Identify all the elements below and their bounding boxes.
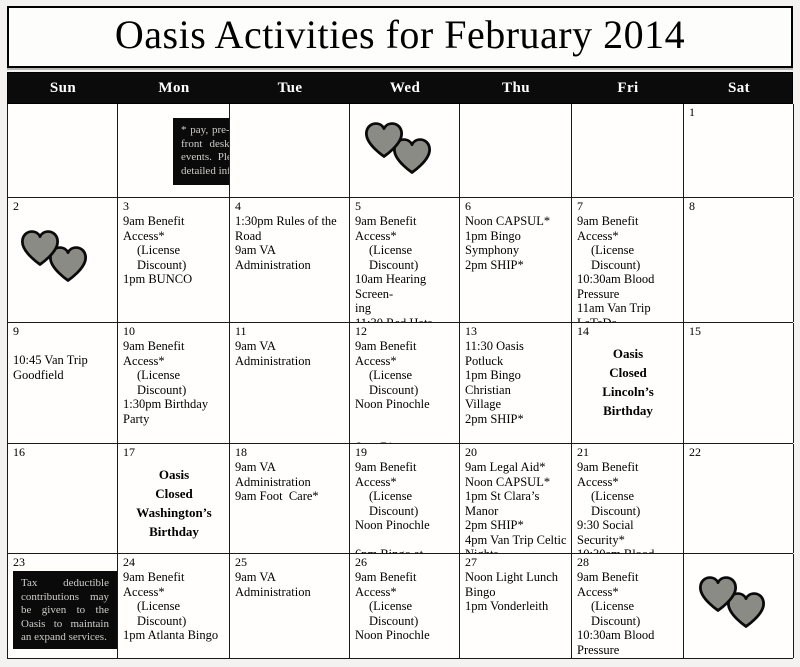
- event-item[interactable]: Noon Pinochle: [577, 657, 679, 658]
- event-item[interactable]: 9am VA Administration: [235, 243, 345, 272]
- event-item[interactable]: (License Discount): [577, 243, 679, 272]
- day-number: 25: [235, 556, 345, 569]
- event-item[interactable]: 10:45 Van Trip: [13, 353, 113, 368]
- day-cell-6[interactable]: 6Noon CAPSUL*1pm BingoSymphony2pm SHIP*: [460, 198, 572, 322]
- closed-notice: OasisClosedWashington’sBirthday: [123, 465, 225, 541]
- day-cell-25[interactable]: 259am VA Administration: [230, 554, 350, 658]
- day-number: 20: [465, 446, 567, 459]
- weekday-header-sat: Sat: [684, 73, 794, 103]
- day-number: 16: [13, 446, 113, 459]
- event-item[interactable]: 9am Benefit Access*: [577, 214, 679, 243]
- event-item[interactable]: LaTeDa: [577, 316, 679, 323]
- event-item[interactable]: Goodfield: [13, 368, 113, 383]
- closed-notice-line: Washington’s: [123, 503, 225, 522]
- closed-notice-line: Lincoln’s: [577, 382, 679, 401]
- day-cell-23[interactable]: 23Tax deductible contributions may be gi…: [8, 554, 118, 658]
- day-cell-14[interactable]: 14OasisClosedLincoln’sBirthday: [572, 323, 684, 443]
- weekday-header-fri: Fri: [572, 73, 684, 103]
- event-list: 9am Benefit Access*(License Discount)Noo…: [355, 570, 455, 658]
- event-spacer: [355, 412, 455, 426]
- calendar-week-row: 23Tax deductible contributions may be gi…: [8, 554, 793, 659]
- event-list: 9am Benefit Access*(License Discount)10:…: [577, 214, 679, 322]
- event-item[interactable]: 2pm SHIP*: [465, 412, 567, 427]
- event-item[interactable]: (License Discount): [355, 599, 455, 628]
- event-item[interactable]: 6pm Bingo at Eagles: [355, 657, 455, 659]
- day-number: 18: [235, 446, 345, 459]
- weekday-header-mon: Mon: [118, 73, 230, 103]
- event-item[interactable]: (License Discount): [123, 599, 225, 628]
- event-spacer: [355, 533, 455, 547]
- day-number: 8: [689, 200, 789, 213]
- event-item[interactable]: 10:30am Blood Pressure: [577, 547, 679, 553]
- day-cell-empty[interactable]: [230, 104, 350, 197]
- day-cell-empty[interactable]: [684, 554, 794, 658]
- day-cell-9[interactable]: 910:45 Van TripGoodfield: [8, 323, 118, 443]
- event-item[interactable]: (License Discount): [355, 489, 455, 518]
- day-cell-5[interactable]: 59am Benefit Access*(License Discount)10…: [350, 198, 460, 322]
- event-list: 9am Benefit Access*(License Discount)Noo…: [355, 460, 455, 553]
- day-cell-27[interactable]: 27Noon Light LunchBingo1pm Vonderleith: [460, 554, 572, 658]
- day-number: 2: [13, 200, 113, 213]
- event-list: 9am Benefit Access*(License Discount)1:3…: [123, 339, 225, 426]
- calendar-title-bar: Oasis Activities for February 2014: [7, 6, 793, 68]
- page-title: Oasis Activities for February 2014: [115, 15, 685, 59]
- heart-icon-front: [364, 122, 404, 158]
- event-item[interactable]: 9am Benefit Access*: [123, 339, 225, 368]
- day-cell-19[interactable]: 199am Benefit Access*(License Discount)N…: [350, 444, 460, 553]
- event-list: 10:45 Van TripGoodfield: [13, 339, 113, 382]
- event-item[interactable]: 1pm Bingo: [465, 229, 567, 244]
- day-cell-8[interactable]: 8: [684, 198, 794, 322]
- event-item[interactable]: Noon CAPSUL*: [465, 475, 567, 490]
- event-item[interactable]: 9:30 Social Security*: [577, 518, 679, 547]
- day-cell-24[interactable]: 249am Benefit Access*(License Discount)1…: [118, 554, 230, 658]
- day-number: 21: [577, 446, 679, 459]
- event-item[interactable]: 9am Benefit Access*: [355, 460, 455, 489]
- day-cell-15[interactable]: 15: [684, 323, 794, 443]
- closed-notice-line: Oasis: [577, 344, 679, 363]
- event-spacer: [355, 643, 455, 657]
- event-item[interactable]: 1pm St Clara’s Manor: [465, 489, 567, 518]
- closed-notice-line: Birthday: [577, 401, 679, 420]
- double-hearts-icon: [362, 120, 448, 178]
- day-cell-11[interactable]: 119am VA Administration: [230, 323, 350, 443]
- event-list: 9am VA Administration: [235, 570, 345, 599]
- event-item[interactable]: 10:30am Blood Pressure: [577, 628, 679, 657]
- day-number: 9: [13, 325, 113, 338]
- event-list: 9am Benefit Access*(License Discount)9:3…: [577, 460, 679, 553]
- event-item[interactable]: 6pm Bingo at Eagles: [355, 440, 455, 444]
- day-number: 12: [355, 325, 455, 338]
- event-list: Noon Light LunchBingo1pm Vonderleith: [465, 570, 567, 614]
- event-item[interactable]: (License Discount): [355, 368, 455, 397]
- event-item[interactable]: (License Discount): [577, 599, 679, 628]
- closed-notice-line: Birthday: [123, 522, 225, 541]
- day-number: 23: [13, 556, 113, 569]
- event-item[interactable]: Potluck: [465, 354, 567, 369]
- event-item[interactable]: 9am VA Administration: [235, 339, 345, 368]
- event-item[interactable]: (License Discount): [123, 243, 225, 272]
- day-number: 10: [123, 325, 225, 338]
- event-item[interactable]: 1:30pm Birthday Party: [123, 397, 225, 426]
- day-number: 1: [689, 106, 789, 119]
- day-cell-1[interactable]: 1: [684, 104, 794, 197]
- event-item[interactable]: 1pm BUNCO: [123, 272, 225, 287]
- event-item[interactable]: (License Discount): [355, 243, 455, 272]
- day-number: 11: [235, 325, 345, 338]
- event-item[interactable]: Noon CAPSUL*: [465, 214, 567, 229]
- event-item[interactable]: ing: [355, 301, 455, 316]
- day-cell-empty[interactable]: [572, 104, 684, 197]
- day-number: 26: [355, 556, 455, 569]
- day-number: 24: [123, 556, 225, 569]
- day-number: 15: [689, 325, 789, 338]
- day-number: 5: [355, 200, 455, 213]
- event-item[interactable]: 9am Benefit Access*: [355, 214, 455, 243]
- event-item[interactable]: Nights: [465, 547, 567, 553]
- event-list: 9am Benefit Access*(License Discount)1pm…: [123, 214, 225, 287]
- event-list: 1:30pm Rules of theRoad9am VA Administra…: [235, 214, 345, 272]
- weekday-header-row: SunMonTueWedThuFriSat: [7, 72, 793, 104]
- heart-icon-front: [698, 576, 738, 612]
- closed-notice: OasisClosedLincoln’sBirthday: [577, 344, 679, 420]
- donation-note-box: Tax deductible contributions may be give…: [13, 571, 117, 649]
- event-item[interactable]: 9am Benefit Access*: [123, 570, 225, 599]
- asterisk-note-box: * pay, pre-register or make an appointme…: [173, 118, 230, 185]
- event-item[interactable]: Symphony: [465, 243, 567, 258]
- event-spacer: [355, 426, 455, 440]
- event-list: 9am Benefit Access*(License Discount)1pm…: [123, 570, 225, 643]
- calendar-week-row: * pay, pre-register or make an appointme…: [8, 104, 793, 198]
- event-item[interactable]: Road: [235, 229, 345, 244]
- event-list: 11:30 OasisPotluck1pm Bingo ChristianVil…: [465, 339, 567, 426]
- day-number: 27: [465, 556, 567, 569]
- event-item[interactable]: 10am Hearing Screen-: [355, 272, 455, 301]
- double-hearts-icon: [18, 228, 104, 286]
- weekday-header-sun: Sun: [8, 73, 118, 103]
- day-cell-7[interactable]: 79am Benefit Access*(License Discount)10…: [572, 198, 684, 322]
- calendar-page: Oasis Activities for February 2014 SunMo…: [0, 0, 800, 667]
- day-cell-28[interactable]: 289am Benefit Access*(License Discount)1…: [572, 554, 684, 658]
- closed-notice-line: Closed: [123, 484, 225, 503]
- double-hearts-icon: [696, 574, 782, 632]
- day-cell-16[interactable]: 16: [8, 444, 118, 553]
- event-list: 9am Benefit Access*(License Discount)Noo…: [355, 339, 455, 443]
- day-number: 4: [235, 200, 345, 213]
- calendar-week-row: 1617OasisClosedWashington’sBirthday189am…: [8, 444, 793, 554]
- event-item[interactable]: Noon Pinochle: [355, 628, 455, 643]
- day-cell-empty[interactable]: [8, 104, 118, 197]
- day-cell-3[interactable]: 39am Benefit Access*(License Discount)1p…: [118, 198, 230, 322]
- day-cell-26[interactable]: 269am Benefit Access*(License Discount)N…: [350, 554, 460, 658]
- day-cell-10[interactable]: 109am Benefit Access*(License Discount)1…: [118, 323, 230, 443]
- day-cell-21[interactable]: 219am Benefit Access*(License Discount)9…: [572, 444, 684, 553]
- weekday-header-wed: Wed: [350, 73, 460, 103]
- event-item[interactable]: 1pm Bingo Christian: [465, 368, 567, 397]
- event-item[interactable]: 11:30 Red Hats: [355, 316, 455, 323]
- event-item[interactable]: Bingo: [465, 585, 567, 600]
- event-item[interactable]: Noon Pinochle: [355, 518, 455, 533]
- day-cell-12[interactable]: 129am Benefit Access*(License Discount)N…: [350, 323, 460, 443]
- event-list: 9am Legal Aid*Noon CAPSUL*1pm St Clara’s…: [465, 460, 567, 553]
- closed-notice-line: Oasis: [123, 465, 225, 484]
- event-item[interactable]: 2pm SHIP*: [465, 518, 567, 533]
- event-item[interactable]: 1pm Vonderleith: [465, 599, 567, 614]
- day-cell-20[interactable]: 209am Legal Aid*Noon CAPSUL*1pm St Clara…: [460, 444, 572, 553]
- day-cell-empty[interactable]: [460, 104, 572, 197]
- day-cell-4[interactable]: 41:30pm Rules of theRoad9am VA Administr…: [230, 198, 350, 322]
- day-number: 22: [689, 446, 789, 459]
- day-number: 6: [465, 200, 567, 213]
- day-cell-13[interactable]: 1311:30 OasisPotluck1pm Bingo ChristianV…: [460, 323, 572, 443]
- day-number: 14: [577, 325, 679, 338]
- day-cell-2[interactable]: 2: [8, 198, 118, 322]
- day-number: 3: [123, 200, 225, 213]
- calendar-week-row: 910:45 Van TripGoodfield109am Benefit Ac…: [8, 323, 793, 444]
- calendar-week-row: 239am Benefit Access*(License Discount)1…: [8, 198, 793, 323]
- closed-notice-line: Closed: [577, 363, 679, 382]
- event-list: 9am VA Administration9am Foot Care*: [235, 460, 345, 504]
- heart-icon-front: [20, 230, 60, 266]
- event-list: Noon CAPSUL*1pm BingoSymphony2pm SHIP*: [465, 214, 567, 272]
- event-item[interactable]: (License Discount): [123, 368, 225, 397]
- day-cell-22[interactable]: 22: [684, 444, 794, 553]
- event-item[interactable]: 9am Foot Care*: [235, 489, 345, 504]
- event-item[interactable]: 2pm SHIP*: [465, 258, 567, 273]
- event-item[interactable]: 9am Legal Aid*: [465, 460, 567, 475]
- event-item[interactable]: 9am Benefit Access*: [123, 214, 225, 243]
- day-number: 13: [465, 325, 567, 338]
- event-item[interactable]: Village: [465, 397, 567, 412]
- event-item[interactable]: 9am Benefit Access*: [577, 570, 679, 599]
- day-cell-empty[interactable]: [350, 104, 460, 197]
- event-item[interactable]: 9am Benefit Access*: [355, 339, 455, 368]
- event-item[interactable]: 6pm Bingo at Eagles: [355, 547, 455, 554]
- event-item[interactable]: 4pm Van Trip Celtic: [465, 533, 567, 548]
- day-number: 7: [577, 200, 679, 213]
- event-list: 9am VA Administration: [235, 339, 345, 368]
- event-item[interactable]: 11am Van Trip: [577, 301, 679, 316]
- event-item[interactable]: (License Discount): [577, 489, 679, 518]
- weekday-header-tue: Tue: [230, 73, 350, 103]
- event-spacer: [13, 339, 113, 353]
- weekday-header-thu: Thu: [460, 73, 572, 103]
- event-item[interactable]: 10:30am Blood Pressure: [577, 272, 679, 301]
- event-item[interactable]: 9am Benefit Access*: [577, 460, 679, 489]
- event-list: 9am Benefit Access*(License Discount)10:…: [577, 570, 679, 658]
- day-cell-18[interactable]: 189am VA Administration9am Foot Care*: [230, 444, 350, 553]
- event-item[interactable]: 1:30pm Rules of the: [235, 214, 345, 229]
- event-item[interactable]: 11:30 Oasis: [465, 339, 567, 354]
- event-item[interactable]: Noon Light Lunch: [465, 570, 567, 585]
- day-number: 28: [577, 556, 679, 569]
- event-list: 9am Benefit Access*(License Discount)10a…: [355, 214, 455, 322]
- day-number: 17: [123, 446, 225, 459]
- event-item[interactable]: 9am VA Administration: [235, 460, 345, 489]
- calendar-grid: * pay, pre-register or make an appointme…: [7, 104, 793, 659]
- event-item[interactable]: 1pm Atlanta Bingo: [123, 628, 225, 643]
- day-number: 19: [355, 446, 455, 459]
- day-cell-empty[interactable]: * pay, pre-register or make an appointme…: [118, 104, 230, 197]
- event-item[interactable]: 9am VA Administration: [235, 570, 345, 599]
- event-item[interactable]: 9am Benefit Access*: [355, 570, 455, 599]
- day-cell-17[interactable]: 17OasisClosedWashington’sBirthday: [118, 444, 230, 553]
- event-item[interactable]: Noon Pinochle: [355, 397, 455, 412]
